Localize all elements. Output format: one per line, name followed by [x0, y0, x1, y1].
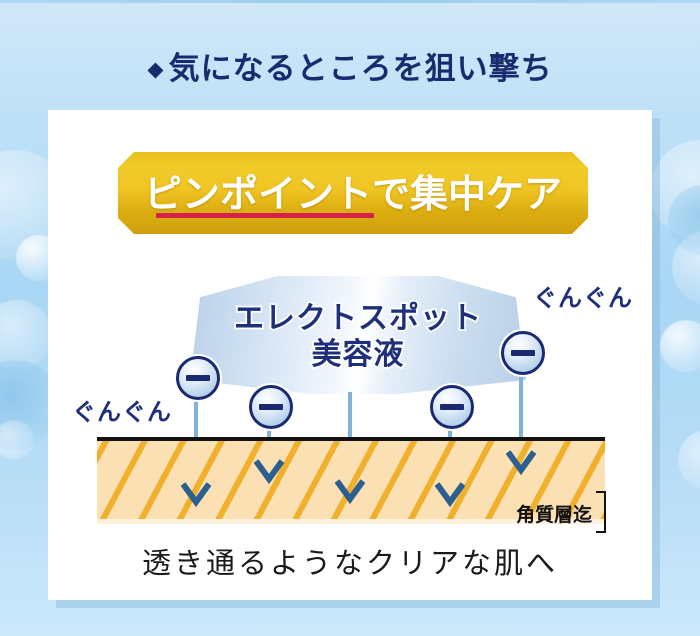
arrow-head — [435, 482, 465, 508]
arrow-head — [335, 479, 365, 505]
stratum-corneum-text: 角質層迄 — [516, 500, 592, 527]
minus-ion-icon — [249, 385, 293, 429]
serum-hexagon-label: エレクトスポット 美容液 — [190, 276, 526, 394]
page-title-text: 気になるところを狙い撃ち — [169, 51, 553, 86]
bottom-caption: 透き通るようなクリアな肌へ — [48, 540, 652, 582]
minus-ion-icon — [430, 385, 474, 429]
arrow-head — [181, 482, 211, 508]
diamond-icon: ◆ — [147, 57, 164, 81]
serum-name-line-1: エレクトスポット — [234, 302, 482, 336]
minus-ion-icon — [176, 356, 220, 400]
gold-banner-inner: ピンポイントで集中ケア — [118, 152, 588, 234]
arrow-head — [506, 450, 536, 476]
gold-banner-underline — [156, 213, 374, 218]
serum-hexagon: エレクトスポット 美容液 — [190, 276, 526, 394]
stratum-corneum-label: 角質層迄 — [516, 492, 606, 534]
minus-ion-icon — [501, 331, 545, 375]
gungun-label-right: ぐんぐん — [533, 278, 633, 313]
gold-banner: ピンポイントで集中ケア — [118, 152, 588, 234]
poster-canvas: ◆気になるところを狙い撃ち ピンポイントで集中ケア エレクトスポット 美容液 ぐ… — [0, 0, 700, 636]
serum-name-line-2: 美容液 — [312, 338, 405, 372]
page-title: ◆気になるところを狙い撃ち — [0, 50, 700, 87]
gungun-label-left: ぐんぐん — [72, 392, 172, 427]
bracket-icon — [596, 491, 606, 533]
background-top-accent — [0, 0, 700, 3]
gold-banner-text: ピンポイントで集中ケア — [144, 163, 562, 218]
arrow-head — [254, 459, 284, 485]
